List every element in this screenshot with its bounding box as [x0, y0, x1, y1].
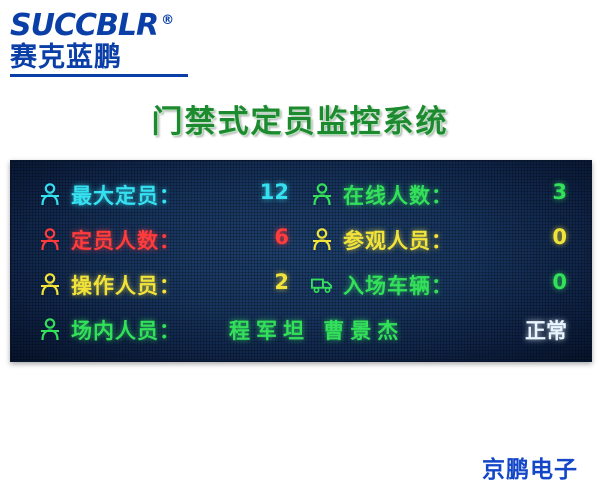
truck-green-icon	[311, 272, 333, 298]
led-status-text: 正常	[525, 315, 567, 345]
led-value: 2	[274, 270, 289, 294]
led-display-panel: 最大定员： 12 在线人数： 3	[10, 160, 592, 362]
company-logo: SUCCBLR® 赛克蓝鹏	[10, 6, 240, 70]
led-value: 6	[274, 225, 289, 249]
led-label: 在线人数：	[343, 180, 453, 210]
led-cell-operator-count: 操作人员： 2	[39, 261, 289, 306]
led-label: 最大定员：	[71, 180, 181, 210]
led-label: 参观人员：	[343, 225, 453, 255]
person-yellow-icon	[311, 227, 333, 253]
led-value: 12	[260, 180, 289, 204]
led-cell-assigned-count: 定员人数： 6	[39, 216, 289, 261]
led-row: 操作人员： 2 入场车辆： 0	[11, 261, 591, 306]
person-green-icon	[39, 317, 61, 343]
logo-latin-text: SUCCBLR®	[10, 6, 240, 41]
led-label: 场内人员：	[71, 315, 181, 345]
led-onsite-names: 程军坦 曹景杰	[229, 315, 404, 345]
person-green-icon	[311, 182, 333, 208]
logo-underline-divider	[10, 74, 188, 77]
person-yellow-icon	[39, 272, 61, 298]
led-label: 操作人员：	[71, 270, 181, 300]
led-label: 定员人数：	[71, 225, 181, 255]
led-cell-online-count: 在线人数： 3	[311, 171, 567, 216]
page-title: 门禁式定员监控系统	[0, 96, 600, 141]
led-cell-visitor-count: 参观人员： 0	[311, 216, 567, 261]
led-label: 入场车辆：	[343, 270, 453, 300]
led-value: 0	[552, 225, 567, 249]
logo-latin-label: SUCCBLR	[10, 8, 158, 43]
registered-trademark-icon: ®	[161, 13, 173, 28]
person-red-icon	[39, 227, 61, 253]
led-cell-vehicles-entered: 入场车辆： 0	[311, 261, 567, 306]
logo-chinese-label: 赛克蓝鹏	[10, 43, 240, 73]
led-value: 3	[552, 180, 567, 204]
led-row: 最大定员： 12 在线人数： 3	[11, 171, 591, 216]
person-cyan-icon	[39, 182, 61, 208]
led-row: 定员人数： 6 参观人员： 0	[11, 216, 591, 261]
led-rows-container: 最大定员： 12 在线人数： 3	[11, 171, 591, 351]
led-row-onsite-personnel: 场内人员： 程军坦 曹景杰 正常	[11, 306, 591, 351]
led-value: 0	[552, 270, 567, 294]
led-cell-max-capacity: 最大定员： 12	[39, 171, 289, 216]
footer-brand-label: 京鹏电子	[482, 450, 578, 484]
